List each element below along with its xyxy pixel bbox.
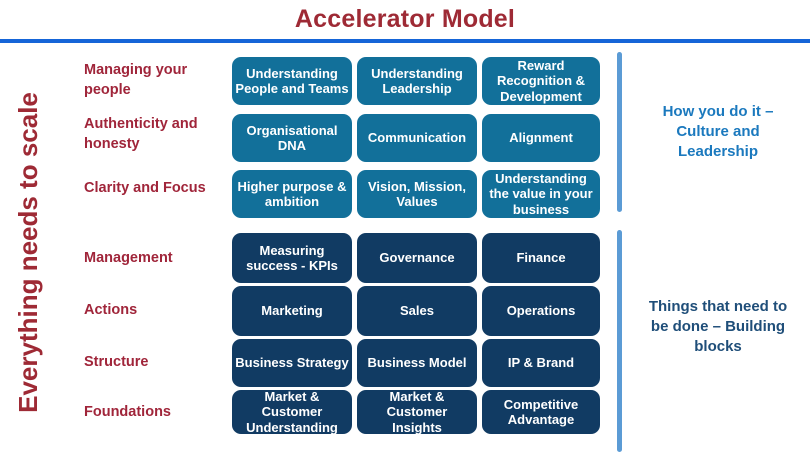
cell-market-customer-insights[interactable]: Market & Customer Insights [357, 390, 477, 434]
cell-label: Market & Customer Insights [360, 389, 474, 434]
cell-label: Understanding Leadership [360, 66, 474, 96]
cell-label: Operations [485, 303, 597, 318]
cell-label: Competitive Advantage [485, 397, 597, 427]
side-label-text: Things that need to be done – Building b… [648, 297, 788, 358]
cell-label: Business Model [360, 355, 474, 370]
cell-governance[interactable]: Governance [357, 233, 477, 283]
cell-label: Sales [360, 303, 474, 318]
cell-label: Measuring success - KPIs [235, 243, 349, 273]
cell-ip-and-brand[interactable]: IP & Brand [482, 339, 600, 387]
cell-higher-purpose-ambition[interactable]: Higher purpose & ambition [232, 170, 352, 218]
row-label-text: Foundations [84, 403, 171, 423]
cell-label: Governance [360, 250, 474, 265]
row-label-managing-your-people: Managing your people [84, 58, 216, 104]
page-title: Accelerator Model [295, 5, 515, 34]
cell-label: Alignment [485, 130, 597, 145]
cell-marketing[interactable]: Marketing [232, 286, 352, 336]
side-label-culture-and-leadership: How you do it – Culture and Leadership [648, 82, 788, 182]
row-label-foundations: Foundations [84, 389, 216, 437]
cell-finance[interactable]: Finance [482, 233, 600, 283]
cell-organisational-dna[interactable]: Organisational DNA [232, 114, 352, 162]
row-label-structure: Structure [84, 339, 216, 387]
cell-understanding-the-value-in-your-business[interactable]: Understanding the value in your business [482, 170, 600, 218]
cell-label: Market & Customer Understanding [235, 389, 349, 434]
cell-business-model[interactable]: Business Model [357, 339, 477, 387]
cell-label: Marketing [235, 303, 349, 318]
cell-label: Finance [485, 250, 597, 265]
cell-market-customer-understanding[interactable]: Market & Customer Understanding [232, 390, 352, 434]
side-label-building-blocks: Things that need to be done – Building b… [648, 272, 788, 382]
cell-vision-mission-values[interactable]: Vision, Mission, Values [357, 170, 477, 218]
row-label-clarity-and-focus: Clarity and Focus [84, 166, 216, 212]
row-label-text: Actions [84, 301, 137, 321]
side-label-text: How you do it – Culture and Leadership [648, 102, 788, 163]
cell-label: IP & Brand [485, 355, 597, 370]
cell-label: Communication [360, 130, 474, 145]
vertical-axis-label-text: Everything needs to scale [13, 92, 44, 413]
cell-measuring-success-kpis[interactable]: Measuring success - KPIs [232, 233, 352, 283]
cell-communication[interactable]: Communication [357, 114, 477, 162]
cell-business-strategy[interactable]: Business Strategy [232, 339, 352, 387]
cell-label: Understanding the value in your business [485, 171, 597, 216]
bracket-culture [617, 52, 622, 212]
row-label-management: Management [84, 235, 216, 283]
row-label-authenticity-and-honesty: Authenticity and honesty [84, 112, 216, 158]
cell-label: Vision, Mission, Values [360, 179, 474, 209]
row-label-actions: Actions [84, 287, 216, 335]
cell-label: Business Strategy [235, 355, 349, 370]
vertical-axis-label: Everything needs to scale [2, 48, 54, 456]
cell-label: Reward Recognition & Development [485, 58, 597, 103]
row-label-text: Management [84, 249, 173, 269]
cell-understanding-leadership[interactable]: Understanding Leadership [357, 57, 477, 105]
cell-label: Organisational DNA [235, 123, 349, 153]
title-bar: Accelerator Model [0, 0, 810, 38]
cell-competitive-advantage[interactable]: Competitive Advantage [482, 390, 600, 434]
title-divider [0, 39, 810, 43]
cell-sales[interactable]: Sales [357, 286, 477, 336]
cell-label: Higher purpose & ambition [235, 179, 349, 209]
cell-alignment[interactable]: Alignment [482, 114, 600, 162]
row-label-text: Managing your people [84, 61, 216, 100]
row-label-text: Structure [84, 353, 148, 373]
row-label-text: Authenticity and honesty [84, 115, 216, 154]
cell-understanding-people-and-teams[interactable]: Understanding People and Teams [232, 57, 352, 105]
row-label-text: Clarity and Focus [84, 179, 206, 199]
bracket-building-blocks [617, 230, 622, 452]
cell-operations[interactable]: Operations [482, 286, 600, 336]
cell-reward-recognition-development[interactable]: Reward Recognition & Development [482, 57, 600, 105]
cell-label: Understanding People and Teams [235, 66, 349, 96]
